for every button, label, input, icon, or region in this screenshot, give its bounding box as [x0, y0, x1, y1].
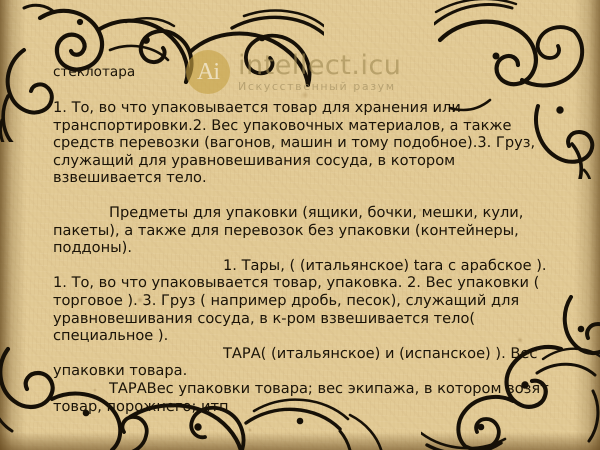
bottom-edge-shadow: [0, 432, 600, 450]
paragraph-5: ТАРАВес упаковки товара; вес экипажа, в …: [53, 380, 561, 415]
paragraph-1: 1. То, во что упаковывается товар для хр…: [53, 99, 561, 187]
page-title: стеклотара: [53, 62, 561, 82]
left-edge-shadow: [0, 0, 26, 450]
paragraph-3: 1. Тары, ( (итальянское) tara с арабское…: [53, 257, 561, 345]
paragraph-2: Предметы для упаковки (ящики, бочки, меш…: [53, 204, 561, 257]
parchment-slide: Ai intellect.icu Искусственный разум сте…: [0, 0, 600, 450]
paragraph-4: ТАРА( (итальянское) и (испанское) ). Вес…: [53, 345, 561, 380]
right-edge-shadow: [574, 0, 600, 450]
paragraph-spacer-1: [53, 187, 561, 204]
document-body: стеклотара 1. То, во что упаковывается т…: [53, 62, 561, 415]
